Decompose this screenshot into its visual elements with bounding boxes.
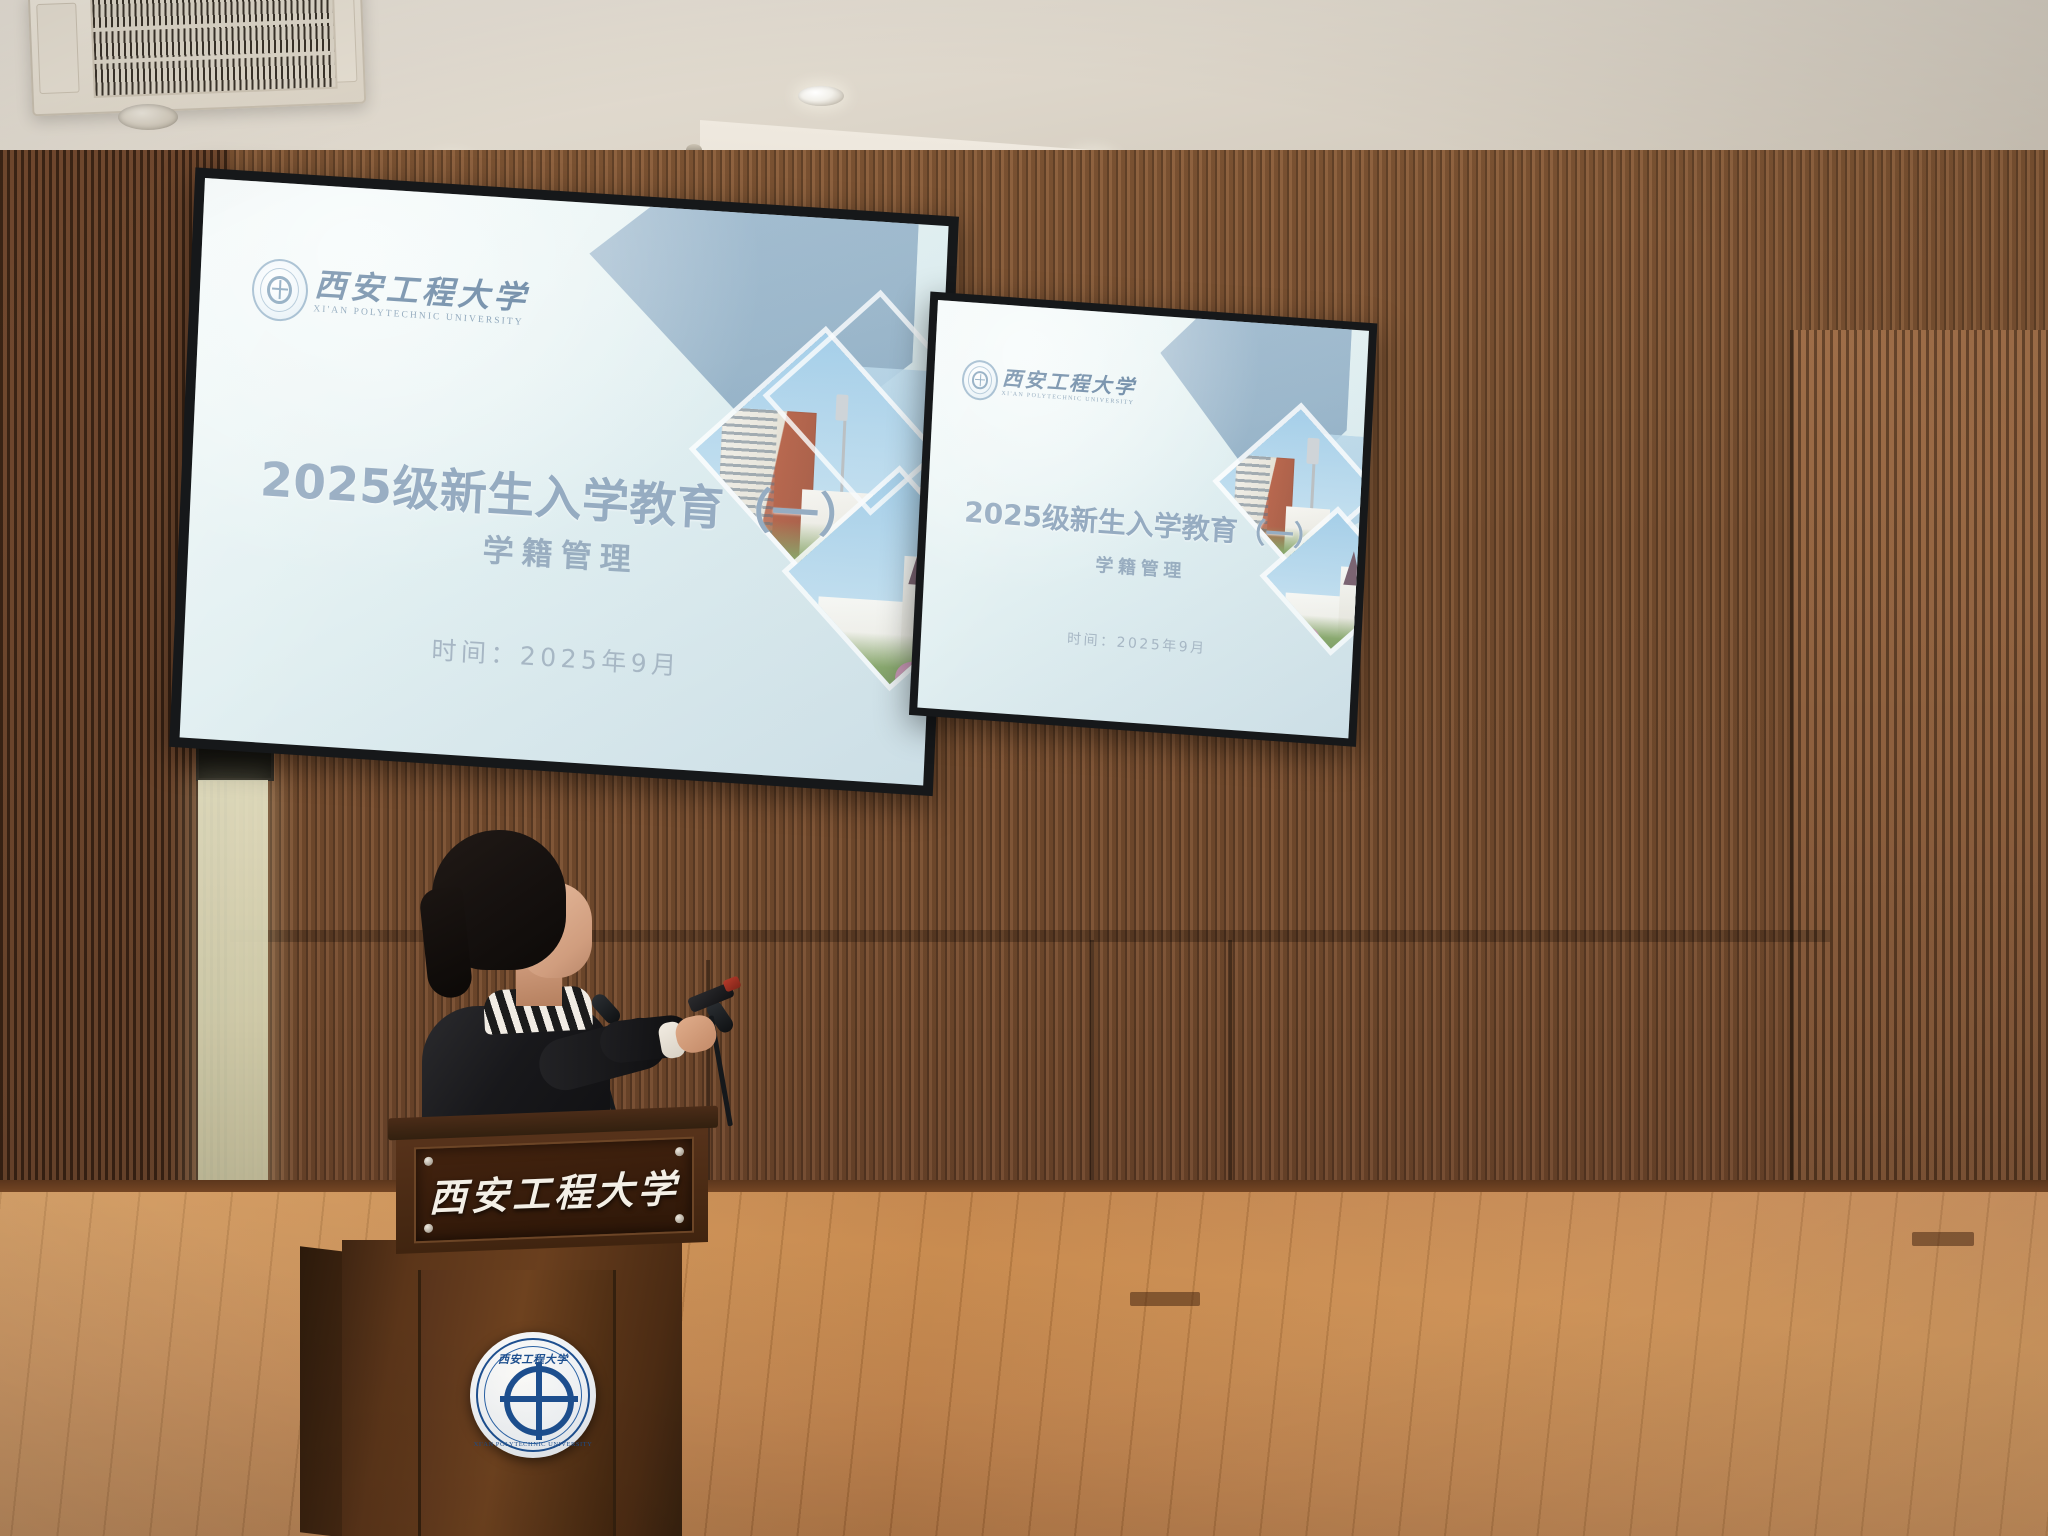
seal-chinese-text: 西安工程大学 bbox=[470, 1351, 596, 1367]
wall-right-panel bbox=[1790, 330, 2048, 1280]
lectern: 西安工程大学 西安工程大学 XI'AN POLYTECHNIC UNIVERSI… bbox=[352, 1120, 752, 1536]
ceiling-speaker bbox=[118, 104, 178, 130]
wall-seam-2 bbox=[1228, 940, 1232, 1190]
slide-surface-2: 西安工程大学 XI'AN POLYTECHNIC UNIVERSITY 2025… bbox=[917, 300, 1369, 738]
seal-glyph bbox=[504, 1366, 574, 1436]
wall-seam-3 bbox=[1790, 330, 1794, 1190]
screen-sheen bbox=[180, 178, 949, 786]
wall-seam-1 bbox=[1090, 940, 1094, 1190]
secondary-projection-screen[interactable]: 西安工程大学 XI'AN POLYTECHNIC UNIVERSITY 2025… bbox=[917, 300, 1369, 738]
lectern-nameplate-text: 西安工程大学 bbox=[416, 1157, 692, 1223]
scene-photo: 西安工程大学 XI'AN POLYTECHNIC UNIVERSITY 2025… bbox=[0, 0, 2048, 1536]
screen-sheen-2 bbox=[917, 300, 1369, 738]
floor-outlet-1 bbox=[1130, 1292, 1200, 1306]
slide-surface: 西安工程大学 XI'AN POLYTECHNIC UNIVERSITY 2025… bbox=[180, 178, 949, 786]
ceiling-air-conditioner bbox=[28, 0, 367, 116]
floor-outlet-2 bbox=[1912, 1232, 1974, 1246]
lectern-university-seal: 西安工程大学 XI'AN POLYTECHNIC UNIVERSITY bbox=[470, 1332, 596, 1458]
main-projection-screen[interactable]: 西安工程大学 XI'AN POLYTECHNIC UNIVERSITY 2025… bbox=[180, 178, 949, 786]
lectern-nameplate: 西安工程大学 bbox=[414, 1137, 694, 1244]
downlight-2 bbox=[798, 86, 844, 106]
air-conditioner-grille bbox=[90, 0, 338, 98]
seal-english-text: XI'AN POLYTECHNIC UNIVERSITY bbox=[470, 1441, 596, 1448]
